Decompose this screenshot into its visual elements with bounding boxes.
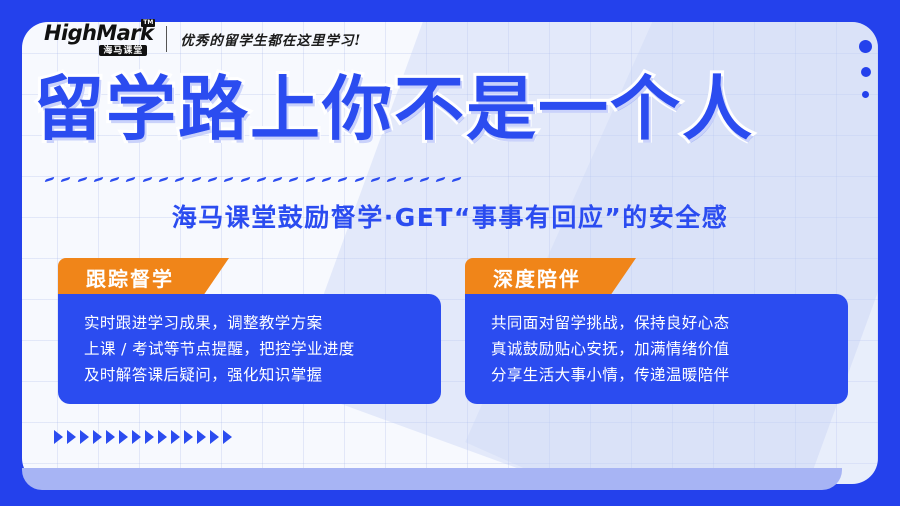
slash-mark-icon	[159, 176, 169, 181]
card-tab-companionship: 深度陪伴	[465, 258, 636, 296]
slash-mark-icon	[61, 176, 71, 181]
arrow-right-icon	[54, 430, 63, 444]
arrow-right-icon	[132, 430, 141, 444]
slash-mark-icon	[354, 176, 364, 181]
slash-mark-icon	[273, 176, 283, 181]
highmark-logo: HighMarkTM 海马课堂	[44, 23, 153, 56]
slash-mark-icon	[126, 176, 136, 181]
arrow-right-icon	[184, 430, 193, 444]
slash-mark-icon	[256, 176, 266, 181]
header-divider	[166, 26, 167, 52]
arrow-right-icon	[93, 430, 102, 444]
arrow-right-icon	[158, 430, 167, 444]
slash-mark-icon	[110, 176, 120, 181]
slash-mark-icon	[419, 176, 429, 181]
arrow-right-icon	[67, 430, 76, 444]
brand-tagline: 优秀的留学生都在这里学习!	[180, 29, 361, 49]
card-line: 上课 / 考试等节点提醒，把控学业进度	[84, 336, 441, 362]
dot-decoration	[859, 40, 872, 98]
slash-mark-icon	[77, 176, 87, 181]
card-line: 共同面对留学挑战，保持良好心态	[491, 310, 848, 336]
card-tab-label: 深度陪伴	[493, 263, 581, 292]
arrow-right-icon	[119, 430, 128, 444]
slash-mark-icon	[338, 176, 348, 181]
dot-small-icon	[862, 91, 869, 98]
slash-mark-icon	[305, 176, 315, 181]
card-tab-tracking: 跟踪督学	[58, 258, 229, 296]
slash-mark-icon	[45, 176, 55, 181]
bottom-accent-bar	[22, 468, 842, 490]
slash-divider	[46, 172, 836, 186]
page-subtitle: 海马课堂鼓励督学·GET“事事有回应”的安全感	[0, 198, 900, 234]
card-body-tracking: 实时跟进学习成果，调整教学方案 上课 / 考试等节点提醒，把控学业进度 及时解答…	[58, 294, 441, 404]
slash-mark-icon	[93, 176, 103, 181]
arrow-right-icon	[223, 430, 232, 444]
poster-root: HighMarkTM 海马课堂 优秀的留学生都在这里学习! 留学路上你不是一个人…	[0, 0, 900, 506]
feature-card-tracking: 跟踪督学 实时跟进学习成果，调整教学方案 上课 / 考试等节点提醒，把控学业进度…	[58, 258, 441, 404]
slash-mark-icon	[322, 176, 332, 181]
card-line: 实时跟进学习成果，调整教学方案	[84, 310, 441, 336]
brand-header: HighMarkTM 海马课堂 优秀的留学生都在这里学习!	[44, 18, 361, 60]
slash-mark-icon	[208, 176, 218, 181]
arrow-right-icon	[145, 430, 154, 444]
card-line: 分享生活大事小情，传递温暖陪伴	[491, 362, 848, 388]
slash-mark-icon	[387, 176, 397, 181]
card-line: 及时解答课后疑问，强化知识掌握	[84, 362, 441, 388]
slash-mark-icon	[142, 176, 152, 181]
slash-mark-icon	[403, 176, 413, 181]
dot-medium-icon	[861, 67, 871, 77]
logo-chinese-name: 海马课堂	[99, 45, 147, 56]
slash-mark-icon	[224, 176, 234, 181]
slash-mark-icon	[289, 176, 299, 181]
feature-cards: 跟踪督学 实时跟进学习成果，调整教学方案 上课 / 考试等节点提醒，把控学业进度…	[58, 258, 848, 404]
card-body-companionship: 共同面对留学挑战，保持良好心态 真诚鼓励贴心安抚，加满情绪价值 分享生活大事小情…	[465, 294, 848, 404]
arrow-right-icon	[197, 430, 206, 444]
page-title: 留学路上你不是一个人	[34, 74, 834, 144]
logo-wordmark: HighMarkTM	[44, 23, 153, 44]
arrow-right-icon	[106, 430, 115, 444]
arrow-right-icon	[171, 430, 180, 444]
slash-mark-icon	[240, 176, 250, 181]
card-tab-label: 跟踪督学	[86, 263, 174, 292]
trademark-icon: TM	[141, 19, 155, 27]
card-line: 真诚鼓励贴心安抚，加满情绪价值	[491, 336, 848, 362]
slash-mark-icon	[452, 176, 462, 181]
slash-mark-icon	[175, 176, 185, 181]
dot-large-icon	[859, 40, 872, 53]
feature-card-companionship: 深度陪伴 共同面对留学挑战，保持良好心态 真诚鼓励贴心安抚，加满情绪价值 分享生…	[465, 258, 848, 404]
arrow-right-icon	[80, 430, 89, 444]
logo-wordmark-text: HighMark	[44, 21, 153, 45]
slash-mark-icon	[191, 176, 201, 181]
arrow-right-icon	[210, 430, 219, 444]
arrow-strip	[54, 430, 232, 444]
slash-mark-icon	[370, 176, 380, 181]
slash-mark-icon	[436, 176, 446, 181]
